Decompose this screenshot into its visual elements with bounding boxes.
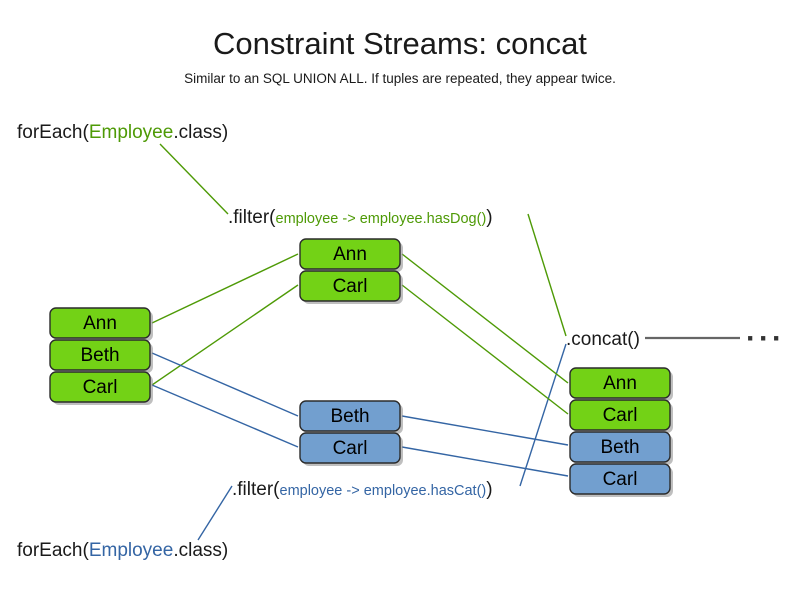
filter-top-param: employee [276, 211, 339, 227]
leader-foreach-top-to-filter-top [160, 144, 228, 214]
node-label: Ann [83, 313, 117, 334]
page-subtitle: Similar to an SQL UNION ALL. If tuples a… [184, 71, 616, 86]
filter-bottom-suffix: ) [486, 479, 492, 500]
foreach-bottom-label: forEach(Employee.class) [17, 540, 228, 561]
leader-lines [160, 144, 566, 540]
node-group-dog-filtered: AnnCarl [300, 239, 403, 304]
node-source-ann[interactable]: Ann [50, 308, 153, 341]
node-group-concat-result: AnnCarlBethCarl [570, 368, 673, 497]
filter-bottom-param: employee [280, 483, 343, 499]
filter-top-label: .filter(employee -> employee.hasDog()) [228, 207, 493, 228]
node-concat-result-carl[interactable]: Carl [570, 400, 673, 433]
foreach-bottom-accent: Employee [89, 540, 174, 561]
filter-bottom-arrow: -> [342, 483, 363, 499]
ellipsis-continuation: ··· [746, 322, 785, 355]
node-dog-filtered-ann[interactable]: Ann [300, 239, 403, 272]
edge-source-beth-to-cat-beth [152, 353, 298, 416]
filter-bottom-body: employee.hasCat() [364, 483, 487, 499]
node-label: Carl [333, 438, 368, 459]
leader-filter-top-to-concat [528, 214, 566, 336]
foreach-top-prefix: forEach( [17, 122, 89, 143]
node-label: Carl [83, 377, 118, 398]
node-concat-result-ann[interactable]: Ann [570, 368, 673, 401]
node-label: Beth [600, 437, 639, 458]
foreach-top-suffix: .class) [173, 122, 228, 143]
node-label: Carl [333, 276, 368, 297]
diagram-canvas: Constraint Streams: concat Similar to an… [0, 0, 800, 600]
node-source-carl[interactable]: Carl [50, 372, 153, 405]
node-group-cat-filtered: BethCarl [300, 401, 403, 466]
node-source-beth[interactable]: Beth [50, 340, 153, 373]
foreach-bottom-suffix: .class) [173, 540, 228, 561]
edge-cat-beth-to-result-beth [402, 416, 568, 445]
page-title: Constraint Streams: concat [213, 26, 587, 61]
filter-top-body: employee.hasDog() [360, 211, 487, 227]
foreach-top-label: forEach(Employee.class) [17, 122, 228, 143]
node-concat-result-carl[interactable]: Carl [570, 464, 673, 497]
node-concat-result-beth[interactable]: Beth [570, 432, 673, 465]
node-group-source: AnnBethCarl [50, 308, 153, 405]
edge-dog-ann-to-result-ann [402, 254, 568, 383]
node-label: Carl [603, 469, 638, 490]
node-cat-filtered-beth[interactable]: Beth [300, 401, 403, 434]
filter-top-prefix: .filter( [228, 207, 276, 228]
filter-bottom-label: .filter(employee -> employee.hasCat()) [232, 479, 493, 500]
concat-label: .concat() [566, 329, 640, 350]
node-label: Ann [603, 373, 637, 394]
node-label: Beth [80, 345, 119, 366]
leader-filter-bottom-to-concat [520, 344, 566, 486]
filter-top-arrow: -> [338, 211, 359, 227]
foreach-bottom-prefix: forEach( [17, 540, 89, 561]
node-label: Carl [603, 405, 638, 426]
foreach-top-accent: Employee [89, 122, 174, 143]
filter-bottom-prefix: .filter( [232, 479, 280, 500]
node-label: Ann [333, 244, 367, 265]
edge-source-ann-to-dog-ann [152, 254, 298, 323]
node-cat-filtered-carl[interactable]: Carl [300, 433, 403, 466]
edge-dog-carl-to-result-carl [402, 285, 568, 414]
edge-source-carl-to-cat-carl [152, 385, 298, 447]
edge-cat-carl-to-result-carl [402, 447, 568, 476]
constraint-streams-concat-diagram: Constraint Streams: concat Similar to an… [0, 0, 800, 600]
node-dog-filtered-carl[interactable]: Carl [300, 271, 403, 304]
edge-source-carl-to-dog-carl [152, 285, 298, 385]
filter-top-suffix: ) [486, 207, 492, 228]
node-label: Beth [330, 406, 369, 427]
leader-foreach-bottom-to-filter-bottom [198, 486, 232, 540]
